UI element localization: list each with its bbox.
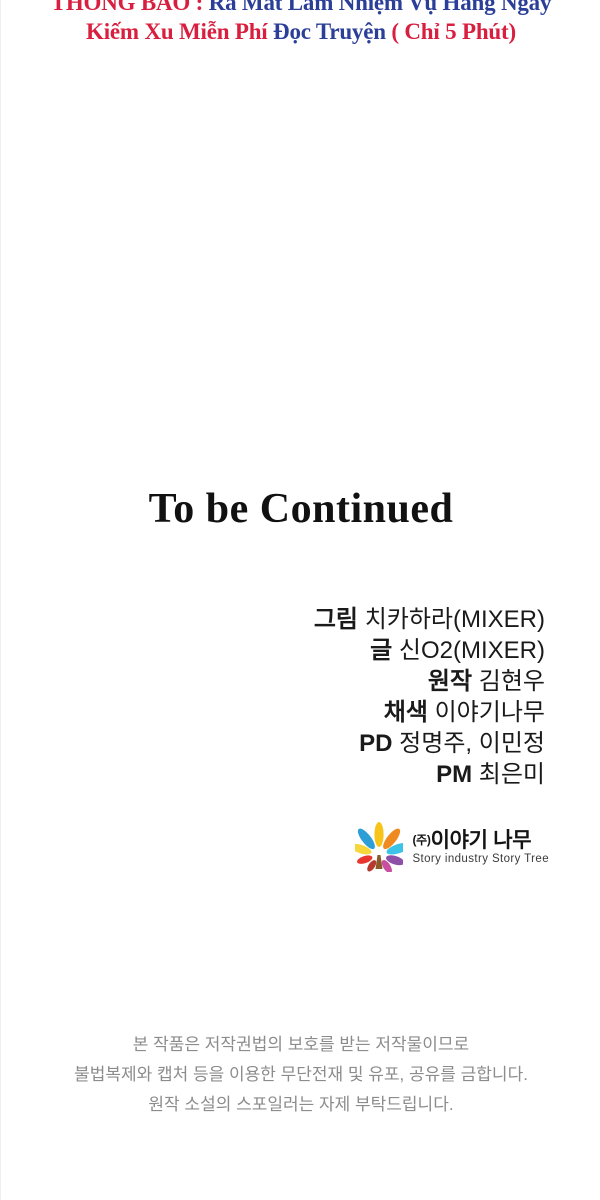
credit-role: 그림 (314, 606, 358, 633)
credit-name: 이야기나무 (435, 699, 545, 726)
webtoon-end-page: THÔNG BÁO : Ra Mắt Làm Nhiệm Vụ Hàng Ngà… (0, 0, 600, 1200)
copyright-notice: 본 작품은 저작권법의 보호를 받는 저작물이므로 불법복제와 캡처 등을 이용… (1, 1030, 600, 1120)
credit-role: 글 (370, 637, 392, 664)
copyright-line: 불법복제와 캡처 등을 이용한 무단전재 및 유포, 공유를 금합니다. (1, 1060, 600, 1090)
credit-role: PM (436, 761, 472, 788)
publisher-logo-subtitle: Story industry Story Tree (412, 852, 549, 866)
publisher-corp-mark: (주) (412, 833, 430, 847)
credit-row: 원작 김현우 (1, 666, 545, 697)
credit-role: PD (359, 730, 392, 757)
credit-row: 채색 이야기나무 (1, 697, 545, 728)
credit-row: PM 최은미 (1, 759, 545, 790)
copyright-line: 본 작품은 저작권법의 보호를 받는 저작물이므로 (1, 1030, 600, 1060)
credit-name: 김현우 (479, 668, 545, 695)
promo-line2-segment-red-2: ( Chỉ 5 Phút) (391, 19, 516, 44)
promo-line1-segment-blue: Ra Mắt Làm Nhiệm Vụ Hàng Ngày (209, 0, 552, 15)
credit-name: 최은미 (479, 761, 545, 788)
copyright-line: 원작 소설의 스포일러는 자제 부탁드립니다. (1, 1090, 600, 1120)
promo-line2-segment-blue: Đọc Truyện (273, 19, 391, 44)
story-tree-logo-icon (355, 822, 403, 872)
credit-name: 신O2(MIXER) (399, 637, 545, 664)
credit-name: 치카하라(MIXER) (365, 606, 545, 633)
promo-banner[interactable]: THÔNG BÁO : Ra Mắt Làm Nhiệm Vụ Hàng Ngà… (1, 0, 600, 56)
credit-row: 그림 치카하라(MIXER) (1, 604, 545, 635)
promo-banner-line-1: THÔNG BÁO : Ra Mắt Làm Nhiệm Vụ Hàng Ngà… (1, 0, 600, 17)
credit-name: 정명주, 이민정 (399, 730, 545, 757)
credit-row: PD 정명주, 이민정 (1, 728, 545, 759)
promo-banner-line-2: Kiếm Xu Miễn Phí Đọc Truyện ( Chỉ 5 Phút… (1, 18, 600, 46)
credit-row: 글 신O2(MIXER) (1, 635, 545, 666)
publisher-name: 이야기 나무 (431, 829, 532, 852)
credit-role: 원작 (428, 668, 472, 695)
credit-role: 채색 (384, 699, 428, 726)
promo-line1-segment-red: THÔNG BÁO : (51, 0, 209, 15)
to-be-continued-title: To be Continued (1, 484, 600, 534)
publisher-logo-title: (주)이야기 나무 (412, 829, 531, 852)
promo-line2-segment-red-1: Kiếm Xu Miễn Phí (86, 19, 273, 44)
publisher-logo: (주)이야기 나무 Story industry Story Tree (1, 822, 600, 872)
credits-block: 그림 치카하라(MIXER) 글 신O2(MIXER) 원작 김현우 채색 이야… (1, 604, 600, 790)
